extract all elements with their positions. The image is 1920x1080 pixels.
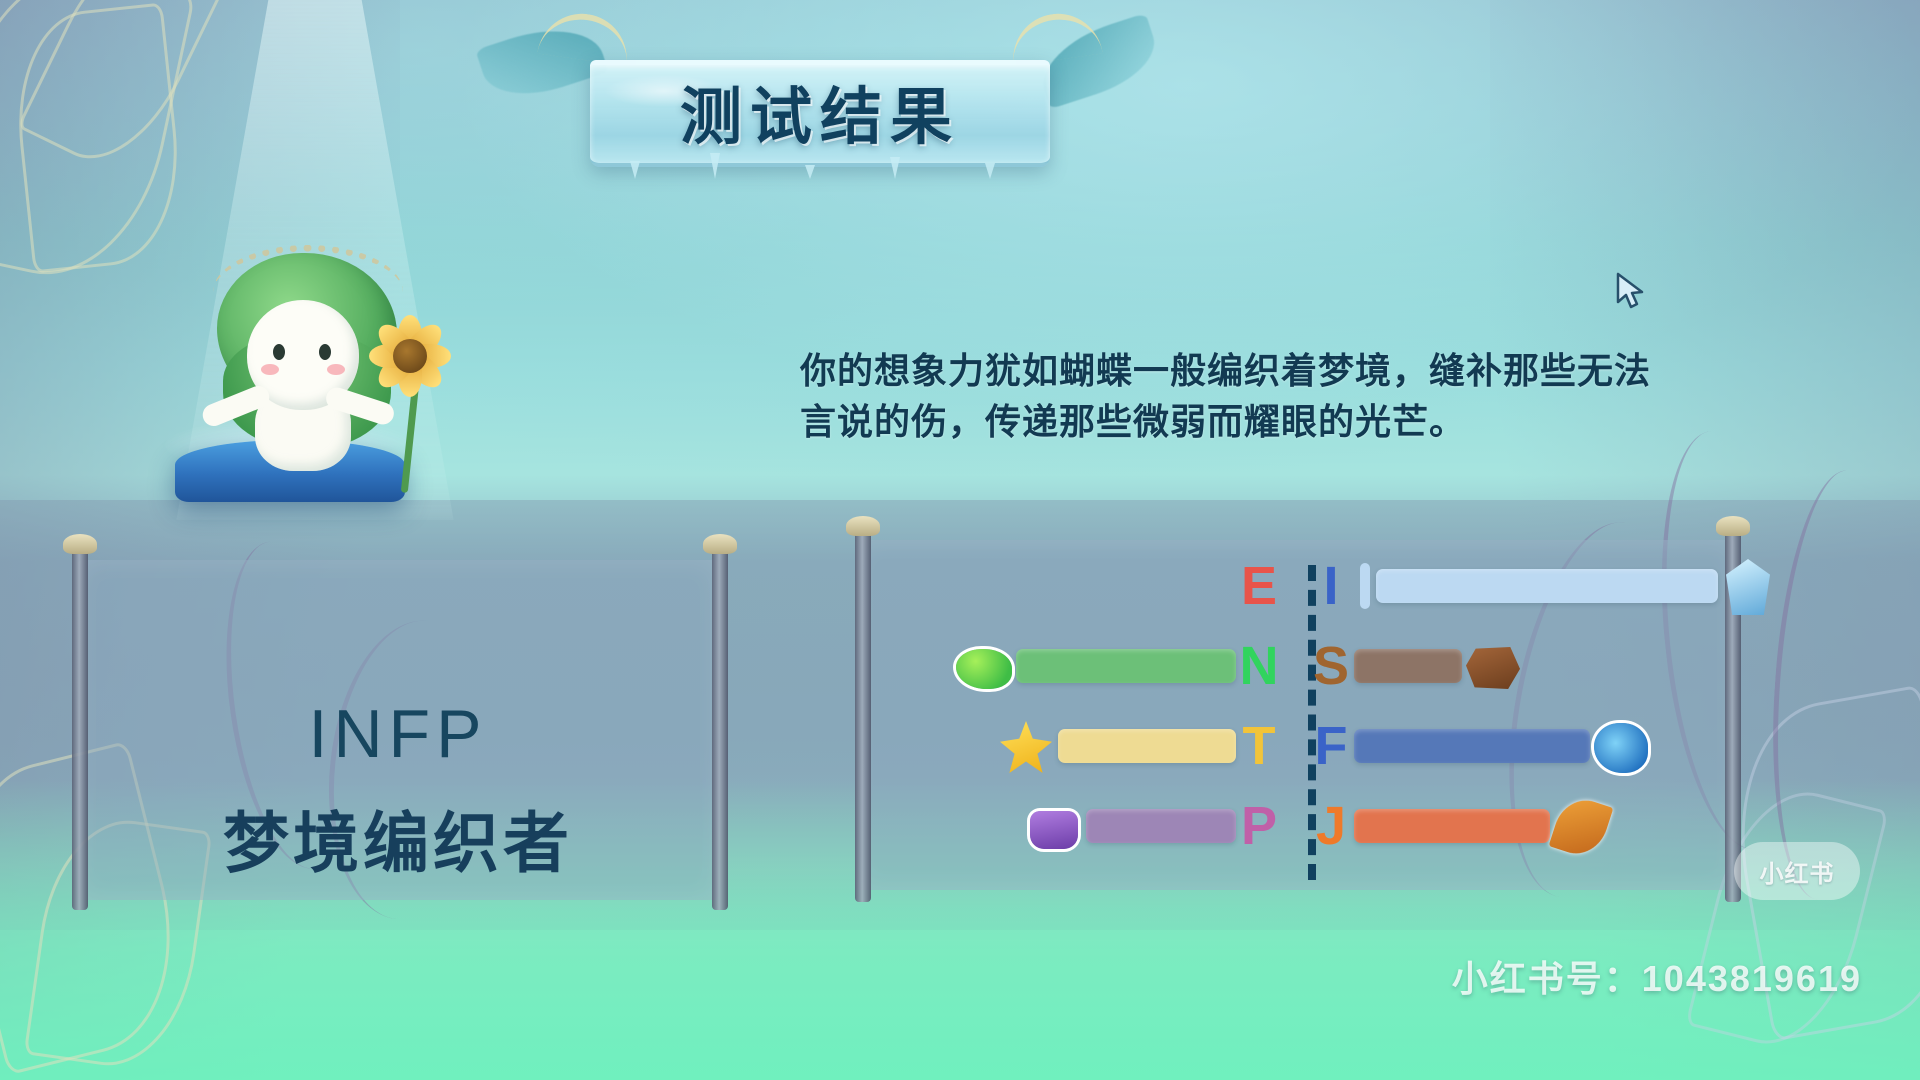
star-icon [996, 717, 1058, 775]
description-line-2: 言说的伤，传递那些微弱而耀眼的光芒。 [800, 396, 1670, 447]
dimension-letter-P: P [1236, 799, 1282, 853]
character-avatar [195, 245, 445, 475]
water-wave-icon [1590, 717, 1652, 775]
icicle-icon [985, 163, 995, 179]
description-line-1: 你的想象力犹如蝴蝶一般编织着梦境，缝补那些无法 [800, 345, 1670, 396]
dimension-left-P: P [1024, 795, 1282, 857]
dimension-bar-I [1376, 569, 1718, 603]
dimension-row-ns: NS [880, 635, 1710, 697]
post-cap-icon [846, 516, 880, 536]
icicle-icon [805, 165, 815, 179]
dimension-bar-T [1058, 729, 1236, 763]
dimension-row-pj: PJ [880, 795, 1710, 857]
post-cap-icon [63, 534, 97, 554]
dimension-bar-S [1354, 649, 1462, 683]
dimension-right-S: S [1308, 635, 1524, 697]
post-cap-icon [703, 534, 737, 554]
xiaohongshu-account-id: 小红书号：1043819619 [1452, 950, 1862, 1002]
mbti-dimension-chart: EINSTFPJ [880, 555, 1710, 885]
xiaohongshu-watermark-badge: 小红书 [1734, 842, 1860, 900]
game-result-screen: 测试结果 你的想象力犹如蝴蝶一般编织着梦境，缝补那些无法 言说的伤，传递那些微弱… [0, 0, 1920, 1080]
dimension-bar-J [1354, 809, 1550, 843]
dimension-left-N: N [954, 635, 1282, 697]
dimension-bar-F [1354, 729, 1590, 763]
dimension-bar-P [1086, 809, 1236, 843]
rock-icon [1462, 637, 1524, 695]
dimension-letter-E: E [1236, 559, 1282, 613]
flower-core [393, 339, 427, 373]
dimension-letter-N: N [1236, 639, 1282, 693]
fire-icon [1174, 557, 1236, 615]
post-cap-icon [1716, 516, 1750, 536]
dimension-right-F: F [1308, 715, 1652, 777]
result-description: 你的想象力犹如蝴蝶一般编织着梦境，缝补那些无法 言说的伤，传递那些微弱而耀眼的光… [800, 345, 1670, 447]
dimension-letter-F: F [1308, 719, 1354, 773]
personality-type-code: INFP [78, 695, 718, 773]
dimension-right-J: J [1308, 795, 1612, 857]
blade-icon [1550, 797, 1612, 855]
dimension-letter-S: S [1308, 639, 1354, 693]
dimension-letter-I: I [1308, 559, 1354, 613]
icicle-icon [890, 157, 900, 179]
character-eye-right [319, 344, 331, 360]
pointer-cursor [1615, 272, 1649, 312]
panel-post-left [855, 530, 871, 902]
dimension-letter-T: T [1236, 719, 1282, 773]
personality-type-name: 梦境编织者 [78, 790, 718, 886]
dimension-bar-N [1016, 649, 1236, 683]
character-cheek-left [261, 364, 279, 375]
icicle-icon [710, 153, 720, 179]
ice-crystal-icon [1718, 557, 1780, 615]
icicle-icon [630, 161, 640, 179]
title-banner: 测试结果 [560, 40, 1080, 170]
slime-icon [954, 637, 1016, 695]
character-cheek-right [327, 364, 345, 375]
dimension-bar-I-stub [1360, 563, 1370, 609]
dimension-right-I: I [1308, 555, 1780, 617]
page-title: 测试结果 [560, 66, 1080, 156]
pot-icon [1024, 797, 1086, 855]
sunflower-icon [367, 313, 453, 399]
dimension-left-E: E [1174, 555, 1282, 617]
flower-crown-icon [213, 245, 403, 292]
dimension-letter-J: J [1308, 799, 1354, 853]
dimension-row-tf: TF [880, 715, 1710, 777]
dimension-left-T: T [996, 715, 1282, 777]
dimension-row-ei: EI [880, 555, 1710, 617]
character-eye-left [273, 344, 285, 360]
